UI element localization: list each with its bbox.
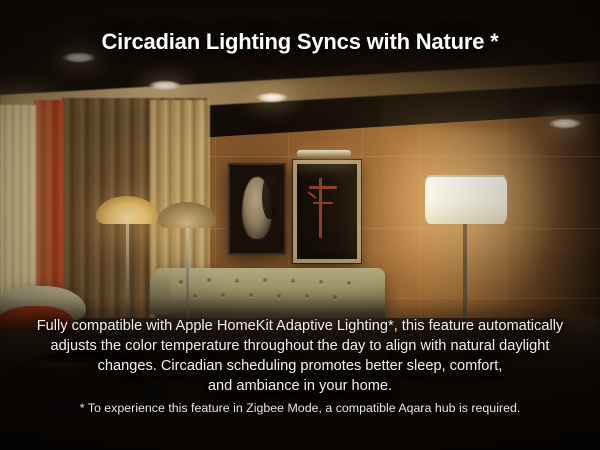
body-line: Fully compatible with Apple HomeKit Adap…	[30, 316, 570, 336]
banner-title: Circadian Lighting Syncs with Nature *	[0, 29, 600, 55]
circadian-lighting-banner: Circadian Lighting Syncs with Nature * F…	[0, 0, 600, 450]
body-line: changes. Circadian scheduling promotes b…	[30, 356, 570, 376]
banner-footnote: * To experience this feature in Zigbee M…	[30, 401, 570, 415]
body-line: adjusts the color temperature throughout…	[30, 336, 570, 356]
banner-body-copy: Fully compatible with Apple HomeKit Adap…	[30, 316, 570, 396]
body-line: and ambiance in your home.	[30, 376, 570, 396]
